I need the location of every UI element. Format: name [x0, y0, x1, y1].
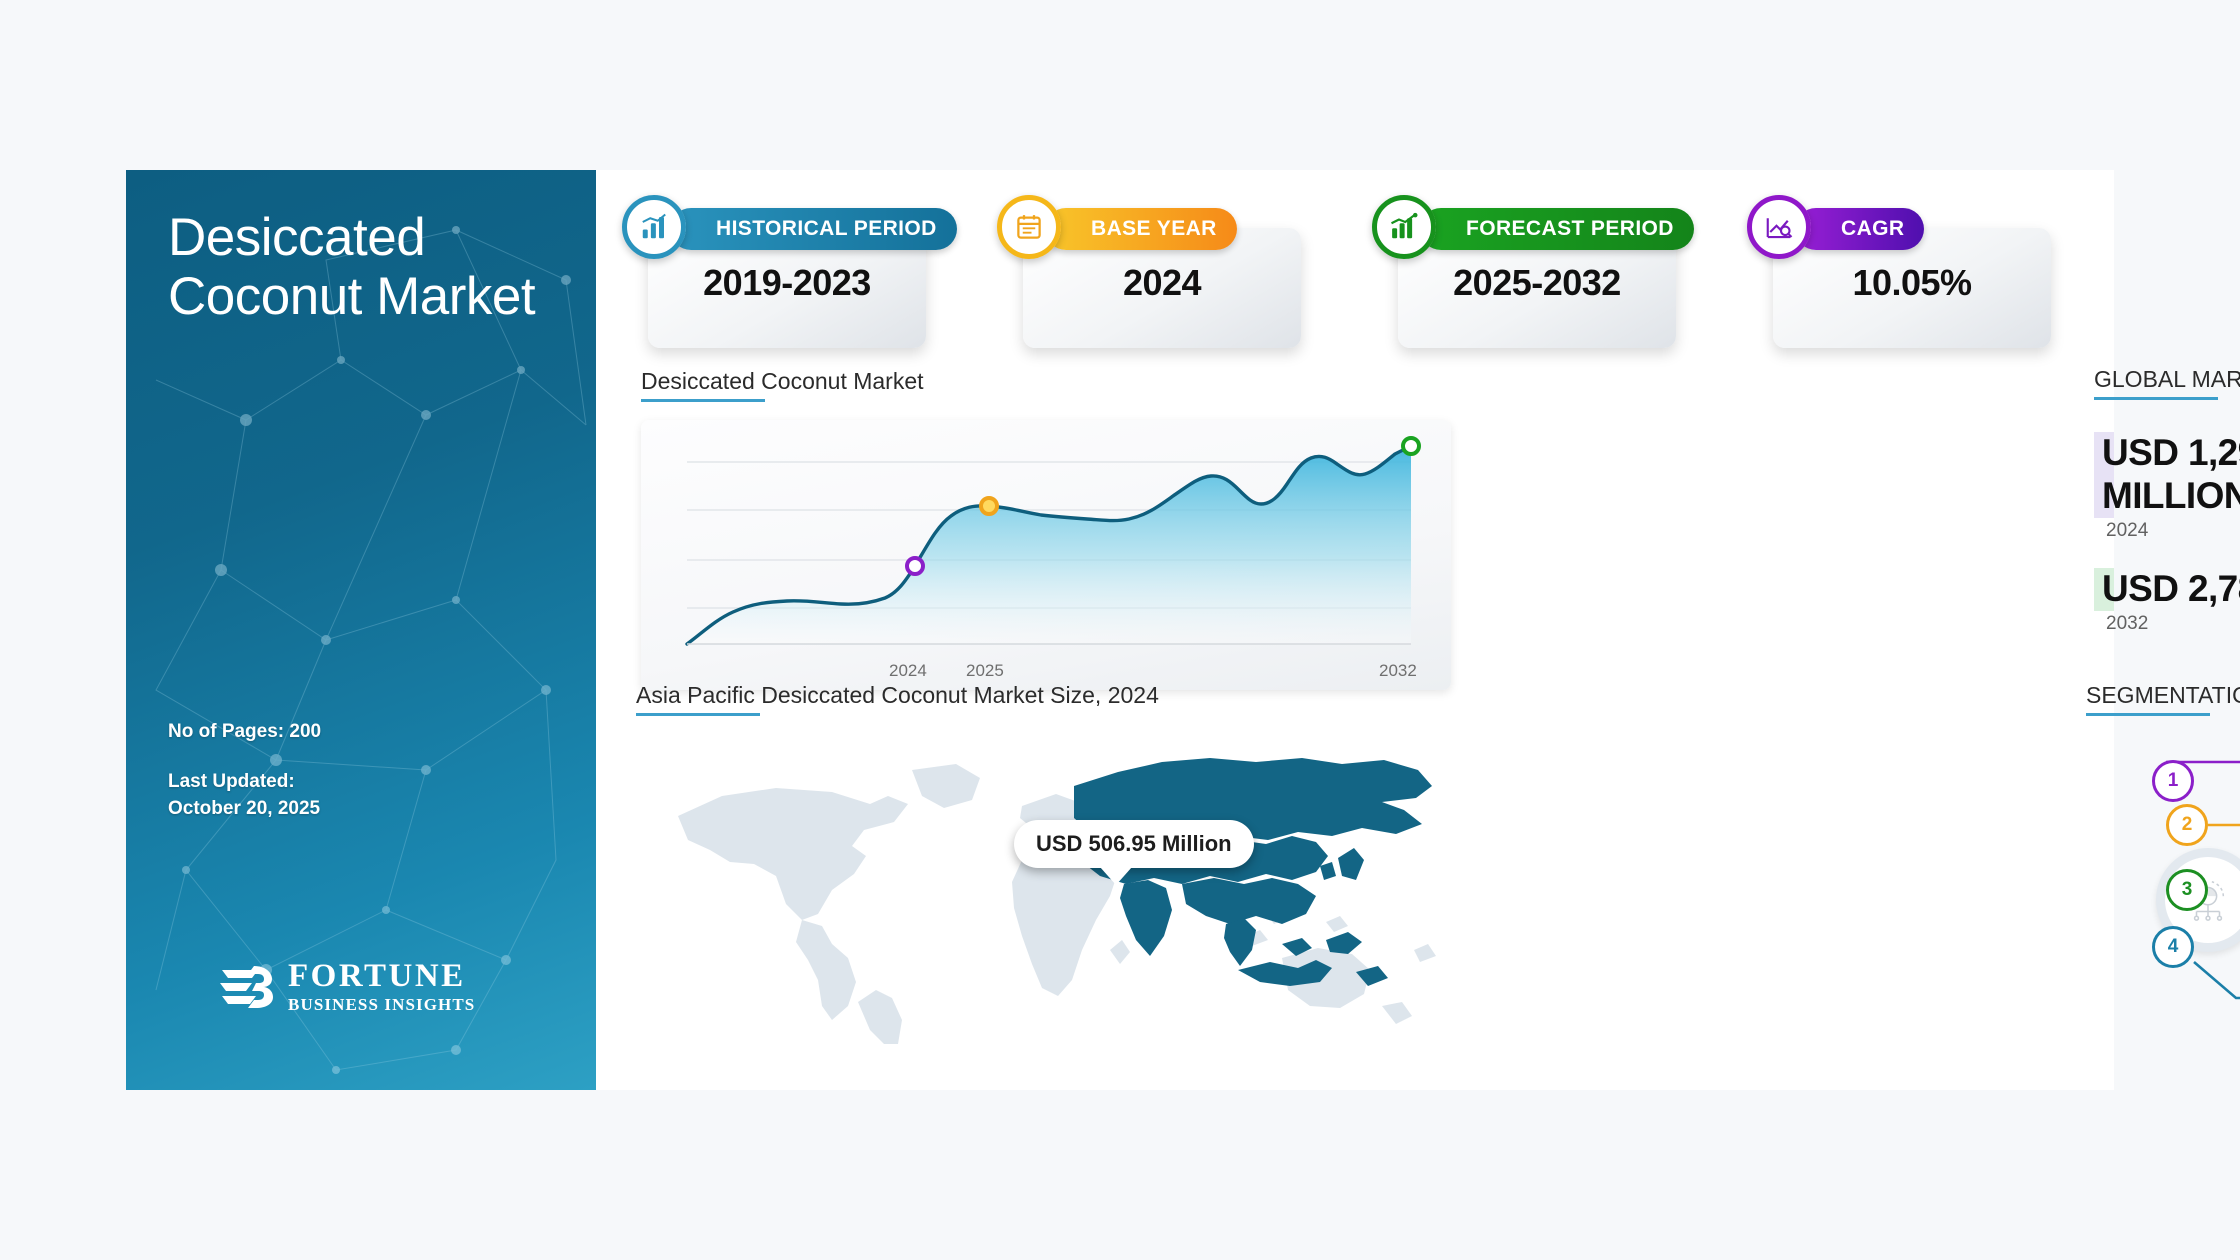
- market-size-entry-2032: USD 2,781.38 MILLION 2032: [2094, 568, 2240, 635]
- world-map-svg: [626, 744, 1466, 1044]
- map-callout-value: USD 506.95 Million: [1014, 820, 1254, 868]
- pages-value: 200: [289, 721, 321, 742]
- pages-line: No of Pages: 200: [168, 718, 321, 746]
- chart-heading: Desiccated Coconut Market: [641, 368, 924, 402]
- page-title: Desiccated Coconut Market: [168, 208, 558, 327]
- main-content: HISTORICAL PERIOD 2019-2023 BASE YEAR: [596, 170, 2114, 1090]
- market-size-year: 2024: [2094, 520, 2240, 542]
- brand-text: FORTUNE BUSINESS INSIGHTS: [288, 960, 475, 1013]
- segmentation-number-2[interactable]: 2: [2166, 804, 2208, 846]
- market-growth-chart: 2024 2025 2032: [641, 420, 1451, 690]
- updated-label: Last Updated:: [168, 768, 321, 796]
- brand-tagline: BUSINESS INSIGHTS: [288, 996, 475, 1013]
- forecast-chart-icon: [1372, 195, 1436, 259]
- infographic-card: Desiccated Coconut Market No of Pages: 2…: [126, 170, 2114, 1090]
- stat-pill-cagr[interactable]: CAGR 10.05%: [1741, 200, 2061, 352]
- chart-xtick-2024: 2024: [889, 661, 927, 681]
- pill-label: CAGR: [1841, 217, 1904, 241]
- market-size-entry-2024: USD 1,297.55 MILLION 2024: [2094, 432, 2240, 542]
- pill-label: FORECAST PERIOD: [1466, 217, 1674, 241]
- pill-label: HISTORICAL PERIOD: [716, 217, 937, 241]
- segmentation-number-3[interactable]: 3: [2166, 869, 2208, 911]
- brand-logo: FORTUNE BUSINESS INSIGHTS: [218, 960, 475, 1013]
- market-size-value: USD 2,781.38 MILLION: [2094, 568, 2240, 611]
- segmentation-number-4[interactable]: 4: [2152, 926, 2194, 968]
- pill-value: 2019-2023: [648, 262, 926, 304]
- chart-svg: [641, 420, 1451, 690]
- global-market-size-section: GLOBAL MARKET SIZE USD 1,297.55 MILLION …: [2094, 170, 2240, 204]
- chart-xtick-2025: 2025: [966, 661, 1004, 681]
- stat-pill-historical-period[interactable]: HISTORICAL PERIOD 2019-2023: [616, 200, 936, 352]
- fortune-monogram-icon: [218, 964, 274, 1010]
- updated-value: October 20, 2025: [168, 795, 321, 823]
- chart-marker-2025: [981, 498, 997, 514]
- segmentation-heading: SEGMENTATION: [2086, 682, 2240, 716]
- map-heading: Asia Pacific Desiccated Coconut Market S…: [636, 682, 1159, 716]
- stat-pill-base-year[interactable]: BASE YEAR 2024: [991, 200, 1311, 352]
- sidebar: Desiccated Coconut Market No of Pages: 2…: [126, 170, 596, 1090]
- stat-pill-row: HISTORICAL PERIOD 2019-2023 BASE YEAR: [616, 188, 2076, 368]
- asia-pacific-map: USD 506.95 Million: [626, 730, 1466, 1060]
- pill-label: BASE YEAR: [1091, 217, 1217, 241]
- stat-pill-forecast-period[interactable]: FORECAST PERIOD 2025-2032: [1366, 200, 1686, 352]
- market-size-heading: GLOBAL MARKET SIZE: [2094, 366, 2240, 400]
- brand-name: FORTUNE: [288, 960, 475, 993]
- pill-banner: BASE YEAR: [1045, 208, 1237, 250]
- market-size-values: USD 1,297.55 MILLION 2024 USD 1,422.68 M…: [2094, 432, 2240, 635]
- chart-marker-2032: [1403, 438, 1419, 454]
- pill-banner: CAGR: [1795, 208, 1924, 250]
- pages-label: No of Pages:: [168, 721, 284, 742]
- report-meta: No of Pages: 200 Last Updated: October 2…: [168, 718, 321, 823]
- bar-chart-icon: [622, 195, 686, 259]
- pill-banner: FORECAST PERIOD: [1420, 208, 1694, 250]
- growth-analysis-icon: [1747, 195, 1811, 259]
- segmentation-number-1[interactable]: 1: [2152, 760, 2194, 802]
- pill-value: 2025-2032: [1398, 262, 1676, 304]
- segmentation-section: SEGMENTATION 1 By Nat: [2086, 730, 2240, 1070]
- pill-value: 10.05%: [1773, 262, 2051, 304]
- pill-value: 2024: [1023, 262, 1301, 304]
- chart-xtick-2032: 2032: [1379, 661, 1417, 681]
- chart-marker-2024: [907, 558, 923, 574]
- market-size-year: 2032: [2094, 613, 2240, 635]
- pill-banner: HISTORICAL PERIOD: [670, 208, 957, 250]
- market-size-value: USD 1,297.55 MILLION: [2094, 432, 2240, 518]
- calendar-icon: [997, 195, 1061, 259]
